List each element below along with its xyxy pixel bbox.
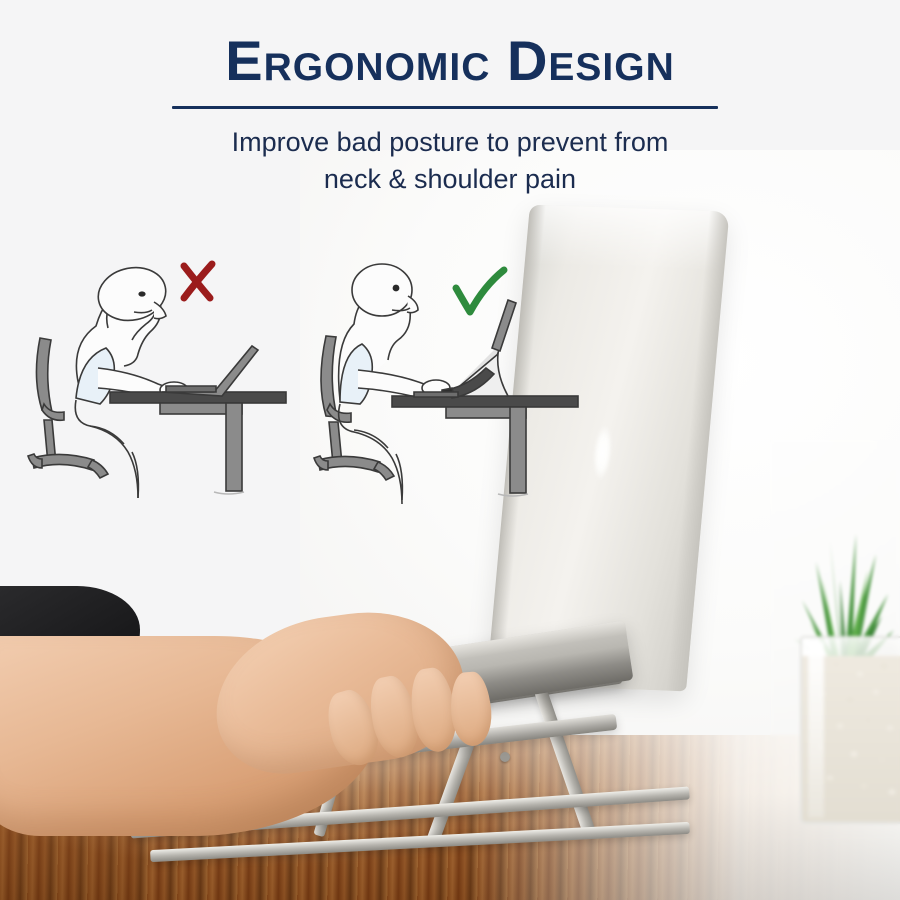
- good-posture-illustration: [296, 250, 586, 505]
- promo-banner: Ergonomic Design Improve bad posture to …: [0, 0, 900, 900]
- bad-posture-illustration: [14, 250, 299, 505]
- stand-pivot-icon: [500, 752, 510, 762]
- header: Ergonomic Design Improve bad posture to …: [0, 0, 900, 210]
- title-divider: [172, 106, 718, 109]
- page-subtitle: Improve bad posture to prevent from neck…: [0, 124, 900, 198]
- subtitle-line-1: Improve bad posture to prevent from: [0, 124, 900, 161]
- laptop-logo-icon: [588, 422, 617, 497]
- page-title: Ergonomic Design: [0, 30, 900, 92]
- subtitle-line-2: neck & shoulder pain: [0, 161, 900, 198]
- glass-vase: [800, 636, 900, 824]
- vase-highlight: [808, 642, 824, 818]
